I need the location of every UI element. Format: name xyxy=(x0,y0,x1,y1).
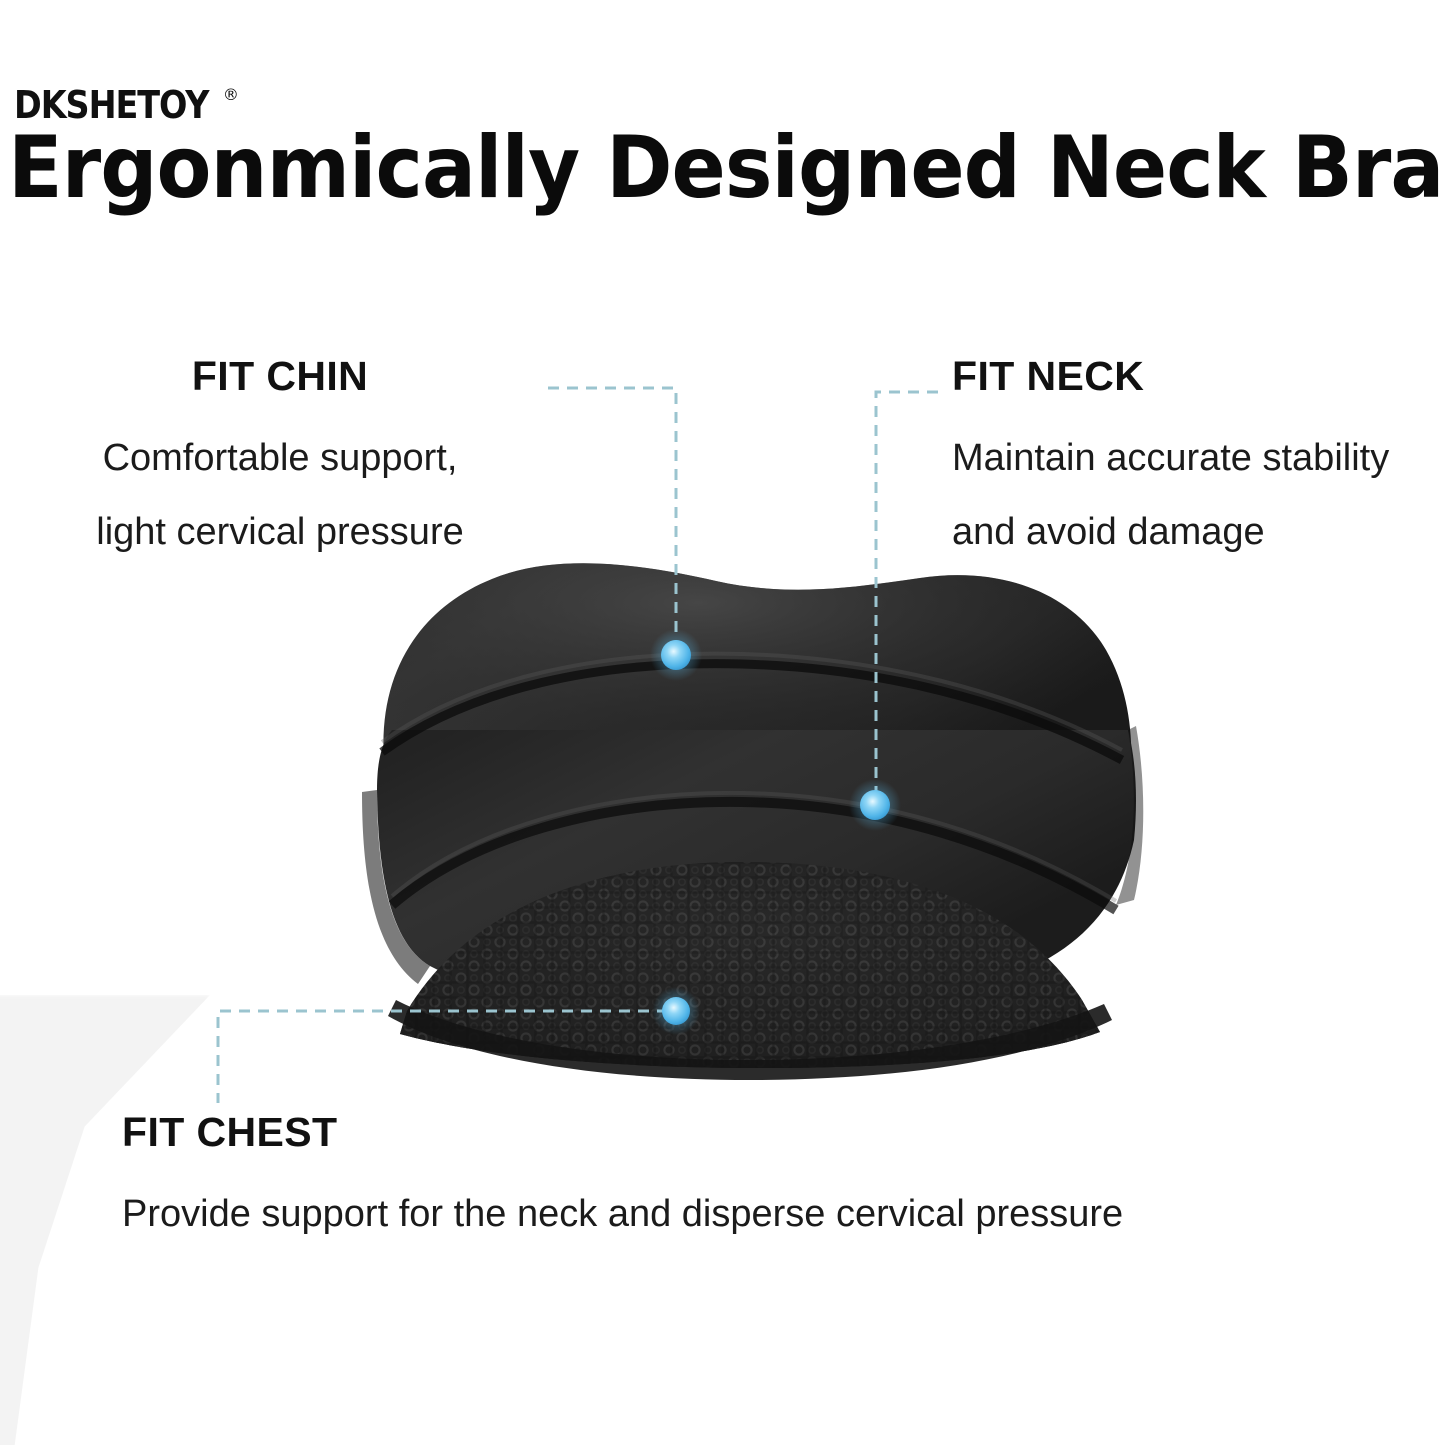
page-title: Ergonmically Designed Neck Brace xyxy=(8,126,1340,210)
callout-fit-chin-line2: light cervical pressure xyxy=(0,495,560,569)
callout-fit-chest-body: Provide support for the neck and dispers… xyxy=(122,1177,1322,1251)
product-infographic: DKSHETOY ® Ergonmically Designed Neck Br… xyxy=(0,0,1445,1445)
callout-fit-neck-line2: and avoid damage xyxy=(952,495,1445,569)
callout-fit-neck-line1: Maintain accurate stability xyxy=(952,421,1445,495)
callout-fit-neck: FIT NECK Maintain accurate stability and… xyxy=(952,356,1445,569)
callout-fit-chest: FIT CHEST Provide support for the neck a… xyxy=(122,1112,1322,1251)
callout-fit-chest-title: FIT CHEST xyxy=(122,1112,1322,1153)
callout-fit-chin-title: FIT CHIN xyxy=(0,356,560,397)
callout-fit-neck-body: Maintain accurate stability and avoid da… xyxy=(952,421,1445,569)
registered-trademark-icon: ® xyxy=(223,87,239,103)
callout-fit-chin-body: Comfortable support, light cervical pres… xyxy=(0,421,560,569)
callout-fit-chest-line1: Provide support for the neck and dispers… xyxy=(122,1177,1322,1251)
callout-fit-neck-title: FIT NECK xyxy=(952,356,1445,397)
callout-fit-chin-line1: Comfortable support, xyxy=(0,421,560,495)
callout-fit-chin: FIT CHIN Comfortable support, light cerv… xyxy=(0,356,560,569)
